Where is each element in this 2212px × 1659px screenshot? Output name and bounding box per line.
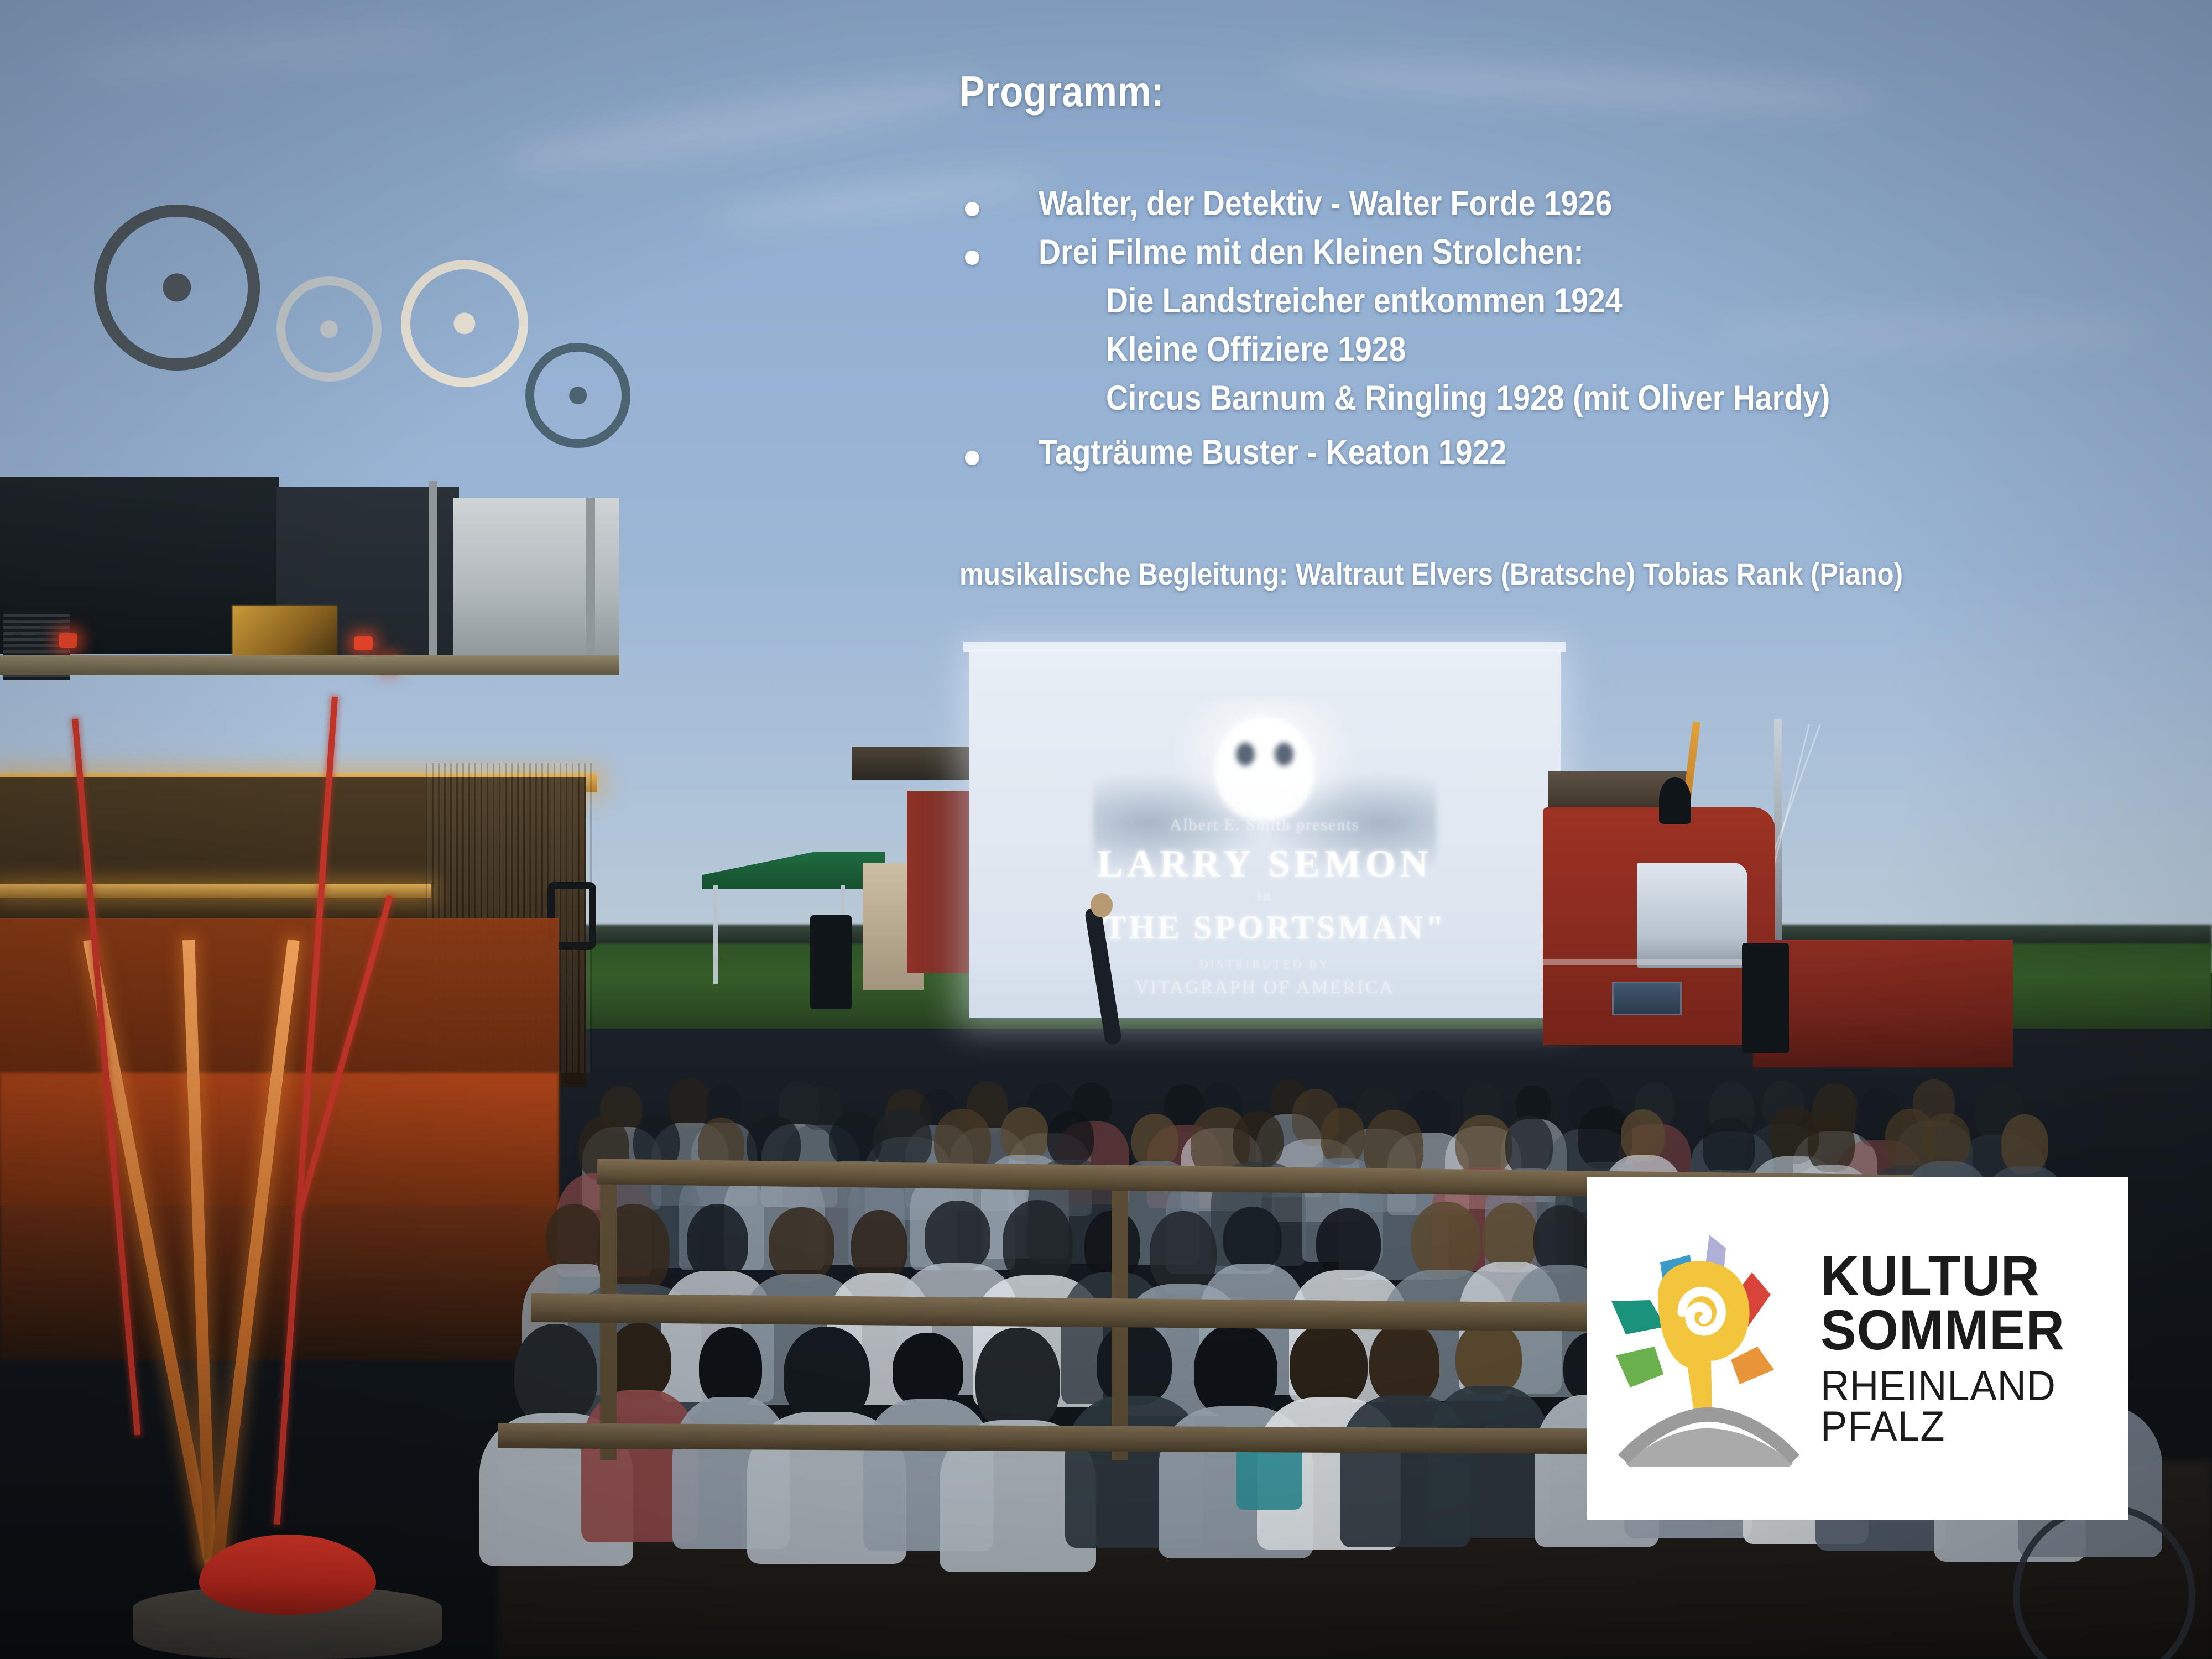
film-reel-blue xyxy=(525,343,630,448)
red-container xyxy=(907,791,979,973)
audience-head xyxy=(546,1204,603,1271)
audience-head xyxy=(669,1078,711,1128)
audience-head xyxy=(1923,1113,1970,1168)
cloud-wisp xyxy=(1714,310,2157,354)
logo-line-rheinland: RHEINLAND xyxy=(1820,1366,2065,1407)
audience-head xyxy=(699,1327,762,1407)
audience-head xyxy=(893,1333,963,1408)
audience-head xyxy=(1533,1205,1590,1274)
eagle-eye-left xyxy=(1236,743,1255,766)
reel-hub xyxy=(163,273,191,301)
audience-head xyxy=(1131,1114,1178,1167)
bullet-marker xyxy=(965,251,979,265)
logo-line-kultur: KULTUR xyxy=(1820,1249,2065,1303)
crate-lit-band xyxy=(0,884,431,898)
red-truck-bed xyxy=(1753,940,2013,1067)
program-item-3: Tagträume Buster - Keaton 1922 xyxy=(1039,432,1506,472)
reel-hub xyxy=(569,387,587,404)
film-title-line-5: DISTRIBUTED BY xyxy=(969,957,1561,972)
canopy-pole xyxy=(713,885,718,984)
program-subitem-3: Circus Barnum & Ringling 1928 (mit Olive… xyxy=(1106,378,1830,418)
reel-hub xyxy=(320,320,338,338)
open-air-cinema-scene: Albert E. Smith presents LARRY SEMON in … xyxy=(0,0,2212,1659)
audience-head xyxy=(2001,1114,2048,1174)
audience-head xyxy=(1316,1208,1381,1278)
audience-head xyxy=(687,1204,748,1280)
audience-head xyxy=(1411,1202,1480,1279)
crate-warm-glow-lower xyxy=(0,1073,559,1360)
truck-stripe xyxy=(1543,959,1775,965)
projector-base-plate xyxy=(0,655,619,675)
cloud-wisp xyxy=(1271,50,1881,121)
logo-line-pfalz: PFALZ xyxy=(1820,1407,2065,1447)
teal-bucket xyxy=(1236,1449,1302,1510)
cloud-wisp xyxy=(707,161,1052,236)
film-title-line-6: VITAGRAPH OF AMERICA xyxy=(969,977,1561,998)
audience-head xyxy=(1455,1115,1512,1175)
audience-head xyxy=(1097,1323,1172,1405)
audience-head xyxy=(1003,1200,1073,1286)
program-item-2: Drei Filme mit den Kleinen Strolchen: xyxy=(1039,232,1584,272)
audience-head xyxy=(1194,1324,1277,1417)
projector-support-leg xyxy=(429,481,437,675)
music-credit-line: musikalische Begleitung: Waltraut Elvers… xyxy=(959,556,1903,592)
audience-head xyxy=(1321,1108,1365,1165)
audience-head xyxy=(1223,1207,1282,1271)
audience-head xyxy=(975,1328,1060,1432)
structure-roof xyxy=(852,747,984,780)
audience-head xyxy=(784,1327,870,1423)
speaker-icon xyxy=(1659,777,1691,824)
logo-line-sommer: SOMMER xyxy=(1820,1303,2065,1358)
audience-head xyxy=(514,1324,597,1426)
audience-head xyxy=(1233,1111,1284,1168)
film-reel-large-dark xyxy=(94,205,260,371)
audience-head xyxy=(1703,1118,1755,1177)
audience-head xyxy=(608,1323,671,1400)
reel-hub xyxy=(453,312,475,334)
projection-screen: Albert E. Smith presents LARRY SEMON in … xyxy=(969,650,1561,1018)
kultursommer-sun-icon xyxy=(1607,1229,1812,1467)
film-title-line-1: Albert E. Smith presents xyxy=(969,816,1561,834)
film-title-line-2: LARRY SEMON xyxy=(969,842,1561,886)
projected-film-frame: Albert E. Smith presents LARRY SEMON in … xyxy=(969,650,1561,1018)
truck-window xyxy=(1637,863,1747,968)
audience-head xyxy=(1150,1211,1217,1294)
program-subitem-2: Kleine Offiziere 1928 xyxy=(1106,330,1406,369)
cloud-wisp xyxy=(497,61,997,188)
film-title-line-3: in xyxy=(969,888,1561,904)
audience-head xyxy=(1808,1117,1855,1172)
cloud-wisp xyxy=(65,17,454,89)
film-reel-cream xyxy=(401,260,528,387)
audience-head xyxy=(851,1210,907,1281)
audience-head xyxy=(1505,1115,1553,1176)
eagle-eye-right xyxy=(1275,743,1293,766)
truck-sign-plate xyxy=(1612,982,1682,1015)
kultursommer-logo: KULTUR SOMMER RHEINLAND PFALZ xyxy=(1587,1177,2128,1520)
film-reel-white-small xyxy=(276,276,382,382)
audience-head xyxy=(1455,1321,1522,1395)
audience-head xyxy=(1290,1323,1368,1407)
program-item-1: Walter, der Detektiv - Walter Forde 1926 xyxy=(1039,184,1612,223)
speaker-icon xyxy=(810,915,852,1009)
audience-body xyxy=(1428,1386,1551,1538)
program-subitem-1: Die Landstreicher entkommen 1924 xyxy=(1106,281,1623,321)
audience-head xyxy=(769,1207,834,1282)
audience-head xyxy=(1001,1107,1048,1161)
bullet-marker xyxy=(965,202,979,216)
page-title: Programm: xyxy=(959,66,1164,117)
film-title-line-4: "THE SPORTSMAN" xyxy=(969,909,1561,947)
speaker-icon xyxy=(1742,943,1789,1053)
kultursommer-wordmark: KULTUR SOMMER RHEINLAND PFALZ xyxy=(1820,1249,2078,1447)
audience-head xyxy=(1369,1321,1439,1405)
audience-head xyxy=(925,1201,990,1271)
indicator-lamp xyxy=(354,636,373,650)
audience-head xyxy=(1621,1109,1665,1161)
audience-head xyxy=(1482,1203,1538,1270)
eagle-head xyxy=(1215,716,1314,821)
bullet-marker xyxy=(965,451,979,465)
raised-hand xyxy=(1091,893,1113,917)
audience-head xyxy=(1047,1111,1094,1166)
projector-support-leg xyxy=(586,498,595,675)
indicator-lamp xyxy=(59,633,77,648)
